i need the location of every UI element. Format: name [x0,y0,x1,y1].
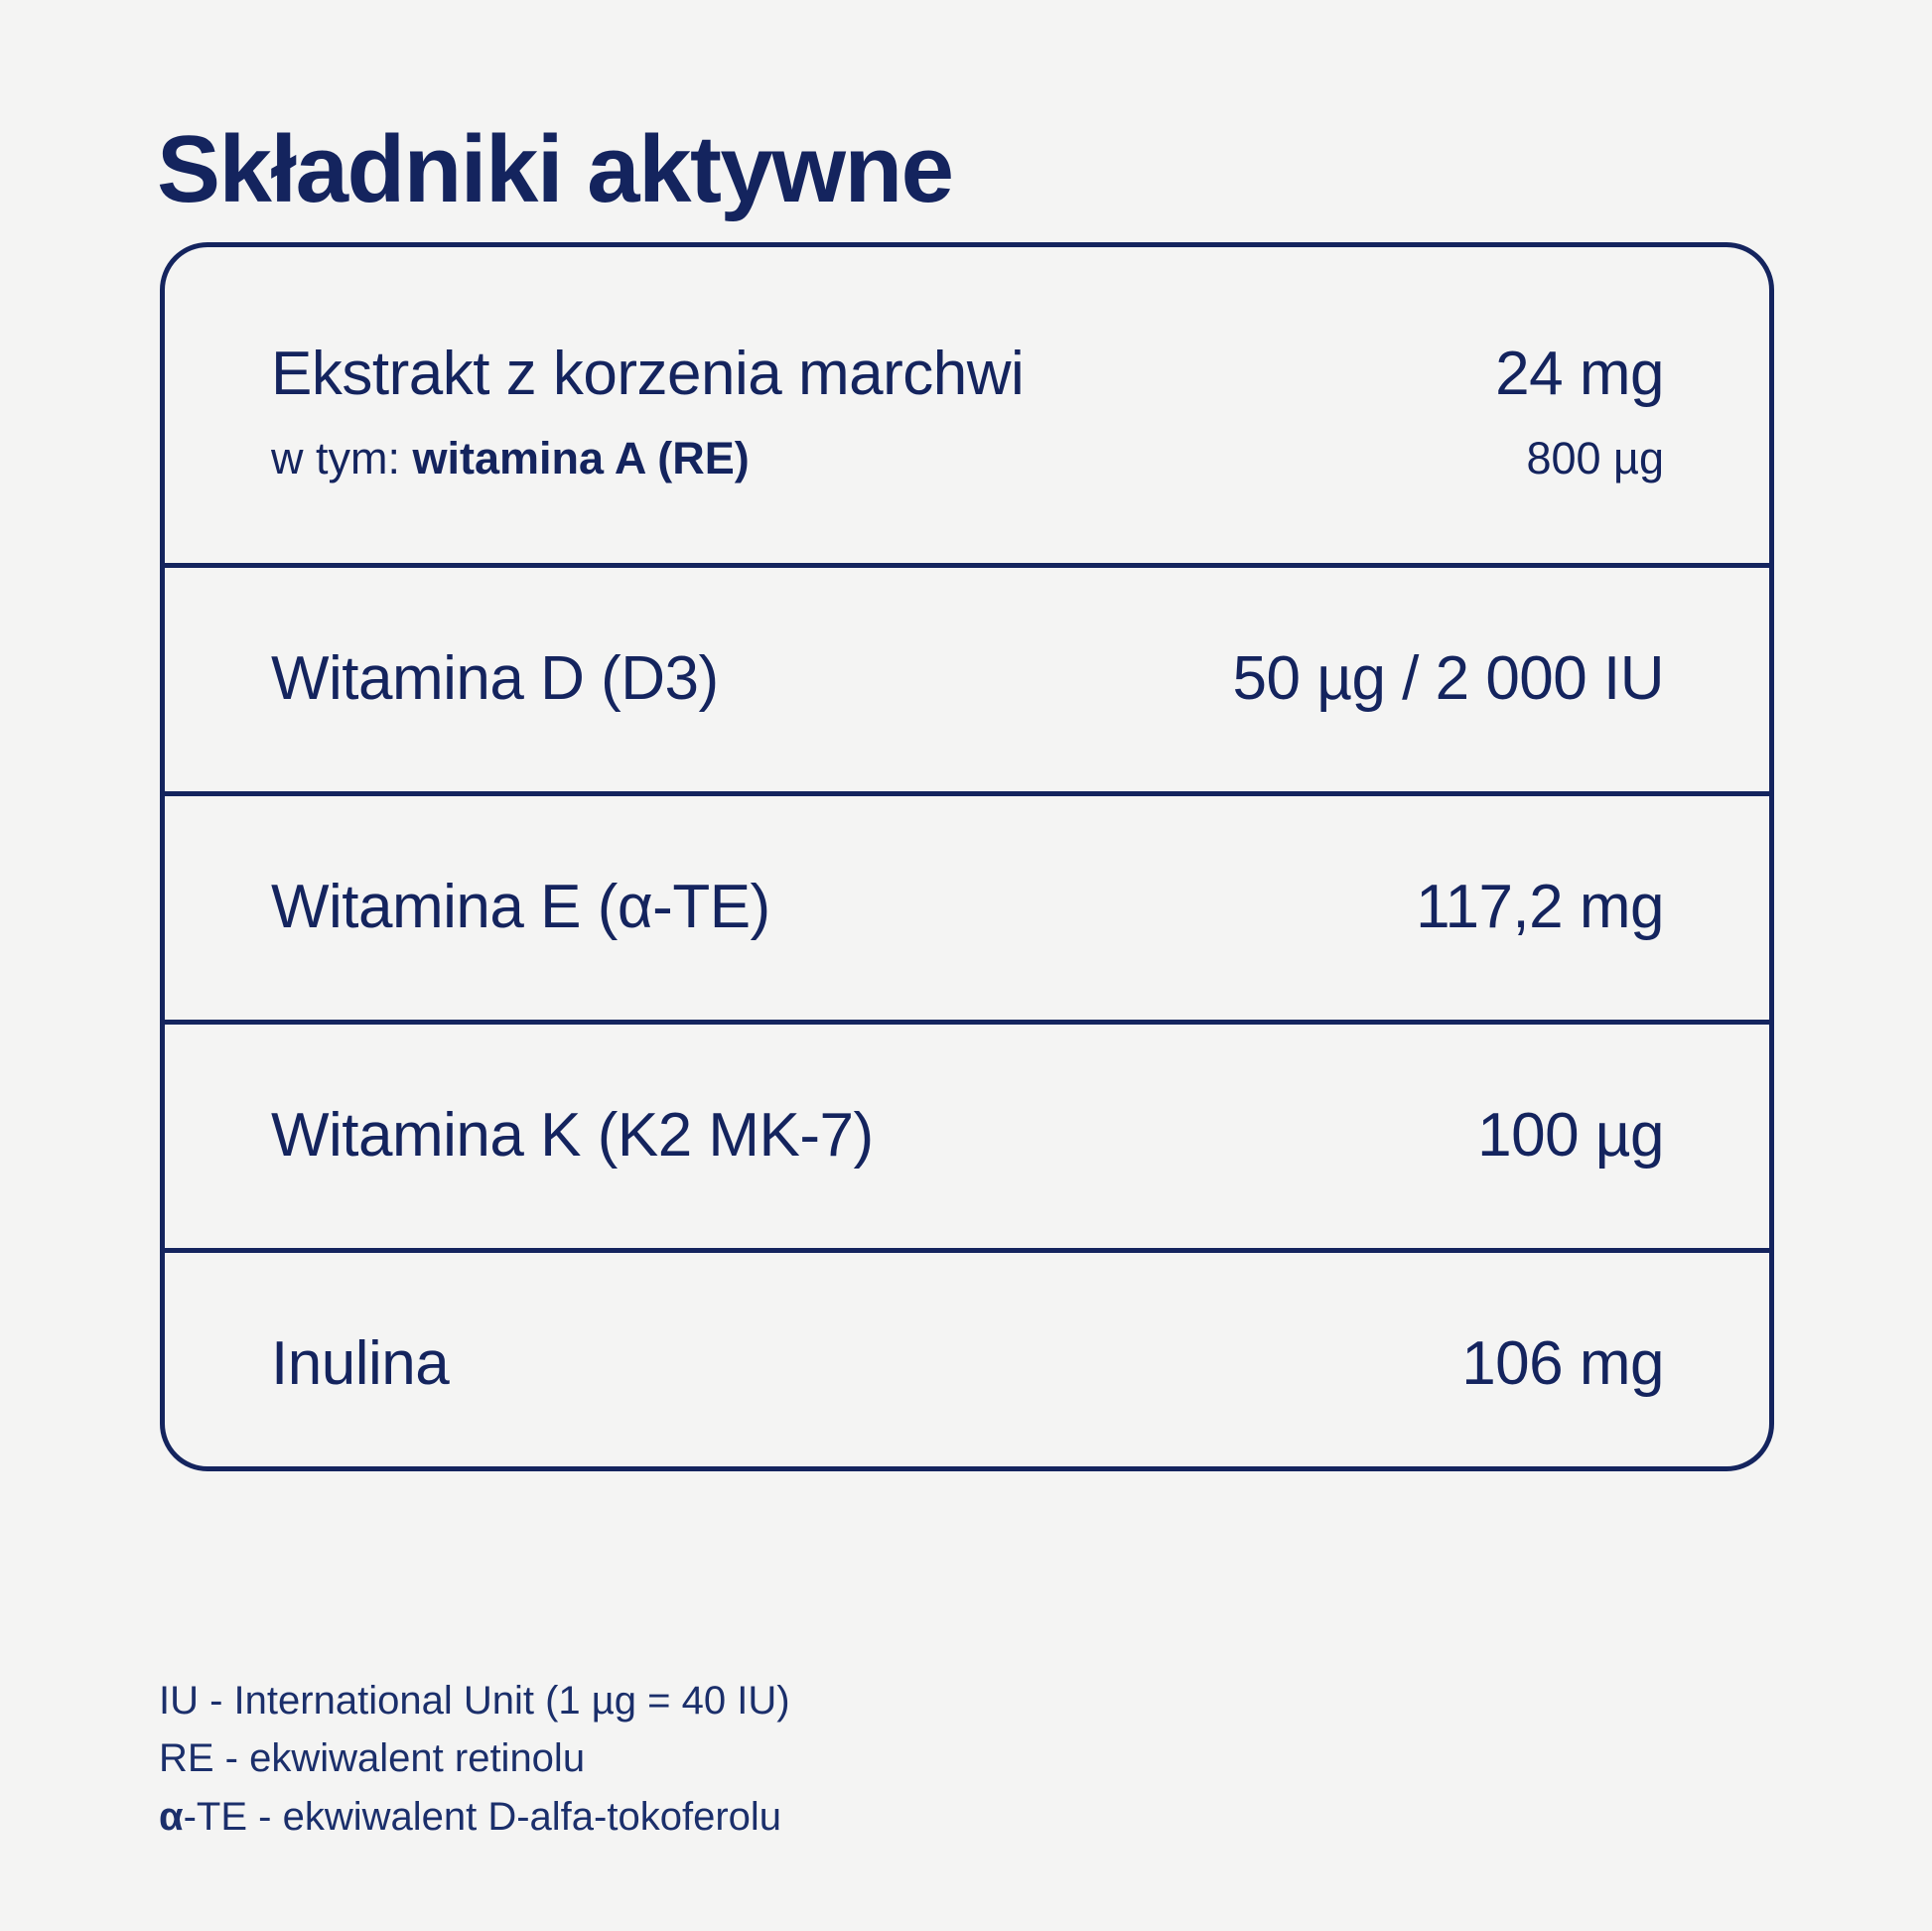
ingredient-value: 50 µg / 2 000 IU [1233,645,1664,713]
row-main-line: Witamina E (α-TE) 117,2 mg [271,874,1664,941]
row-main-line: Witamina K (K2 MK-7) 100 µg [271,1102,1664,1170]
footnote-iu: IU - International Unit (1 µg = 40 IU) [159,1672,790,1729]
ingredient-name: Witamina E (α-TE) [271,874,770,941]
row-main-line: Witamina D (D3) 50 µg / 2 000 IU [271,645,1664,713]
ingredient-value: 100 µg [1477,1102,1664,1170]
ingredients-page: Składniki aktywne Ekstrakt z korzenia ma… [0,0,1932,1931]
ingredient-value: 24 mg [1495,341,1664,408]
ingredient-name: Inulina [271,1330,449,1398]
ingredient-sub-strong: witamina A (RE) [413,433,750,483]
ingredient-name: Witamina K (K2 MK-7) [271,1102,874,1170]
table-row: Witamina K (K2 MK-7) 100 µg [165,1020,1769,1248]
page-title: Składniki aktywne [157,115,953,224]
table-row: Witamina E (α-TE) 117,2 mg [165,791,1769,1020]
table-row: Inulina 106 mg [165,1248,1769,1471]
row-sub-line: w tym: witamina A (RE) 800 µg [271,434,1664,483]
ingredient-sub-value: 800 µg [1526,434,1664,483]
ingredient-name: Ekstrakt z korzenia marchwi [271,341,1024,408]
ingredient-sub-name: w tym: witamina A (RE) [271,434,750,483]
footnote-alpha-te: α-TE - ekwiwalent D-alfa-tokoferolu [159,1788,790,1846]
row-main-line: Inulina 106 mg [271,1330,1664,1398]
ingredient-sub-lead: w tym: [271,433,413,483]
alpha-symbol: α [159,1795,184,1839]
ingredients-table: Ekstrakt z korzenia marchwi 24 mg w tym:… [160,242,1774,1471]
table-row: Witamina D (D3) 50 µg / 2 000 IU [165,563,1769,791]
ingredient-name: Witamina D (D3) [271,645,719,713]
footnotes: IU - International Unit (1 µg = 40 IU) R… [159,1672,790,1846]
row-main-line: Ekstrakt z korzenia marchwi 24 mg [271,341,1664,408]
footnote-alpha-rest: -TE - ekwiwalent D-alfa-tokoferolu [184,1795,781,1839]
footnote-re: RE - ekwiwalent retinolu [159,1729,790,1787]
table-row: Ekstrakt z korzenia marchwi 24 mg w tym:… [165,247,1769,563]
ingredient-value: 106 mg [1461,1330,1664,1398]
ingredient-value: 117,2 mg [1416,874,1664,941]
